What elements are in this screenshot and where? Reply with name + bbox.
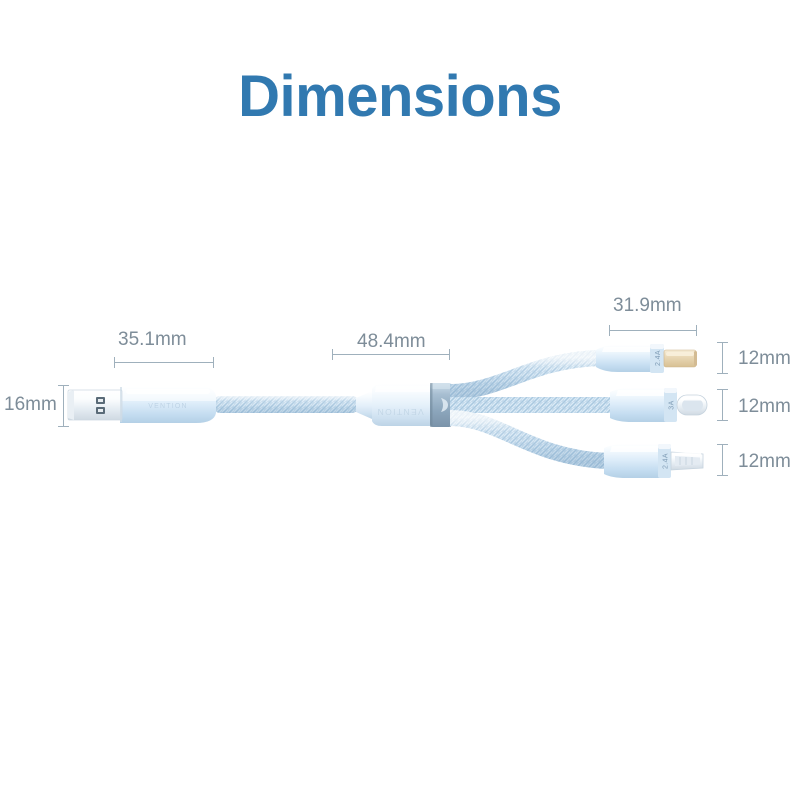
usb-a-connector: VENTION (68, 386, 216, 423)
usb-c-connector: 3A (610, 388, 707, 422)
dim-line-usba-length (114, 362, 214, 363)
dim-line-usbc-width (722, 389, 723, 421)
svg-text:VENTION: VENTION (376, 407, 424, 417)
dim-label-usba-length: 35.1mm (118, 330, 187, 349)
dim-label-hub-length: 48.4mm (357, 332, 426, 351)
dim-label-lightning-width: 12mm (738, 349, 791, 368)
dim-line-lightning-width (722, 342, 723, 374)
dim-line-microusb-width (722, 444, 723, 476)
dim-label-microusb-width: 12mm (738, 452, 791, 471)
dim-label-usbc-width: 12mm (738, 397, 791, 416)
splitter-hub: VENTION (356, 383, 452, 427)
svg-text:2.4A: 2.4A (655, 350, 662, 366)
dim-label-tip-length: 31.9mm (613, 296, 682, 315)
output-cables (450, 358, 614, 461)
micro-usb-connector: 2.4A (604, 444, 703, 478)
svg-text:2.4A: 2.4A (663, 453, 670, 469)
dim-line-usba-width (63, 385, 64, 427)
dimensions-diagram: Dimensions (0, 0, 800, 800)
dim-line-hub-length (332, 354, 450, 355)
dim-label-usba-width: 16mm (4, 395, 57, 414)
svg-text:3A: 3A (669, 400, 676, 409)
product-illustration: VENTION VENTION (0, 0, 800, 800)
trunk-cable (212, 396, 360, 413)
dim-line-tip-length (609, 330, 697, 331)
lightning-connector: 2.4A (596, 344, 697, 373)
svg-text:VENTION: VENTION (148, 403, 188, 410)
